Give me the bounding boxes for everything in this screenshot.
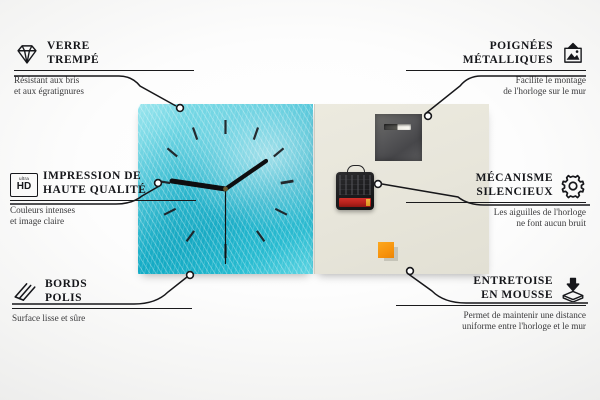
feature-header: VERRETREMPÉ xyxy=(14,40,194,67)
foam-spacer-icon xyxy=(560,276,586,302)
feature-title: IMPRESSION DEHAUTE QUALITÉ xyxy=(43,170,146,197)
hanger-keyhole-slot xyxy=(384,124,411,130)
divider xyxy=(12,308,192,309)
mechanism-loop-icon xyxy=(347,165,365,175)
infographic-canvas: VERRETREMPÉ Résistant aux briset aux égr… xyxy=(0,0,600,400)
foam-spacer xyxy=(378,242,394,258)
divider xyxy=(406,70,586,71)
feature-entretoise-en-mousse: ENTRETOISEEN MOUSSE Permet de maintenir … xyxy=(396,275,586,333)
feature-header: ENTRETOISEEN MOUSSE xyxy=(396,275,586,302)
feature-verre-trempe: VERRETREMPÉ Résistant aux briset aux égr… xyxy=(14,40,194,98)
feature-header: ultra HD IMPRESSION DEHAUTE QUALITÉ xyxy=(10,170,196,197)
clock-mechanism-box xyxy=(336,172,374,210)
feature-impression-haute-qualite: ultra HD IMPRESSION DEHAUTE QUALITÉ Coul… xyxy=(10,170,196,228)
gear-icon xyxy=(560,173,586,199)
feature-title: ENTRETOISEEN MOUSSE xyxy=(473,275,553,302)
diamond-icon xyxy=(14,41,40,67)
feature-description: Surface lisse et sûre xyxy=(12,313,192,324)
ultra-hd-icon: ultra HD xyxy=(10,173,36,195)
feature-title: VERRETREMPÉ xyxy=(47,40,99,67)
feature-mecanisme-silencieux: MÉCANISMESILENCIEUX Les aiguilles de l'h… xyxy=(406,172,586,230)
metal-hanger-plate xyxy=(375,114,422,161)
feature-title: BORDSPOLIS xyxy=(45,278,87,305)
feature-description: Permet de maintenir une distanceuniforme… xyxy=(396,310,586,333)
feature-header: MÉCANISMESILENCIEUX xyxy=(406,172,586,199)
divider xyxy=(406,202,586,203)
feature-title: MÉCANISMESILENCIEUX xyxy=(476,172,553,199)
wall-frame-hanger-icon xyxy=(560,41,586,67)
feature-header: POIGNÉESMÉTALLIQUES xyxy=(406,40,586,67)
feature-description: Les aiguilles de l'horlogene font aucun … xyxy=(406,207,586,230)
feature-description: Couleurs intenseset image claire xyxy=(10,205,196,228)
battery xyxy=(339,198,371,207)
feature-poignees-metalliques: POIGNÉESMÉTALLIQUES Facilite le montaged… xyxy=(406,40,586,98)
divider xyxy=(10,200,196,201)
divider xyxy=(396,305,586,306)
mechanism-detail xyxy=(339,175,371,195)
feature-description: Résistant aux briset aux égratignures xyxy=(14,75,194,98)
divider xyxy=(14,70,194,71)
feature-header: BORDSPOLIS xyxy=(12,278,192,305)
polished-edges-icon xyxy=(12,279,38,305)
feature-title: POIGNÉESMÉTALLIQUES xyxy=(463,40,553,67)
feature-description: Facilite le montagede l'horloge sur le m… xyxy=(406,75,586,98)
feature-bords-polis: BORDSPOLIS Surface lisse et sûre xyxy=(12,278,192,324)
